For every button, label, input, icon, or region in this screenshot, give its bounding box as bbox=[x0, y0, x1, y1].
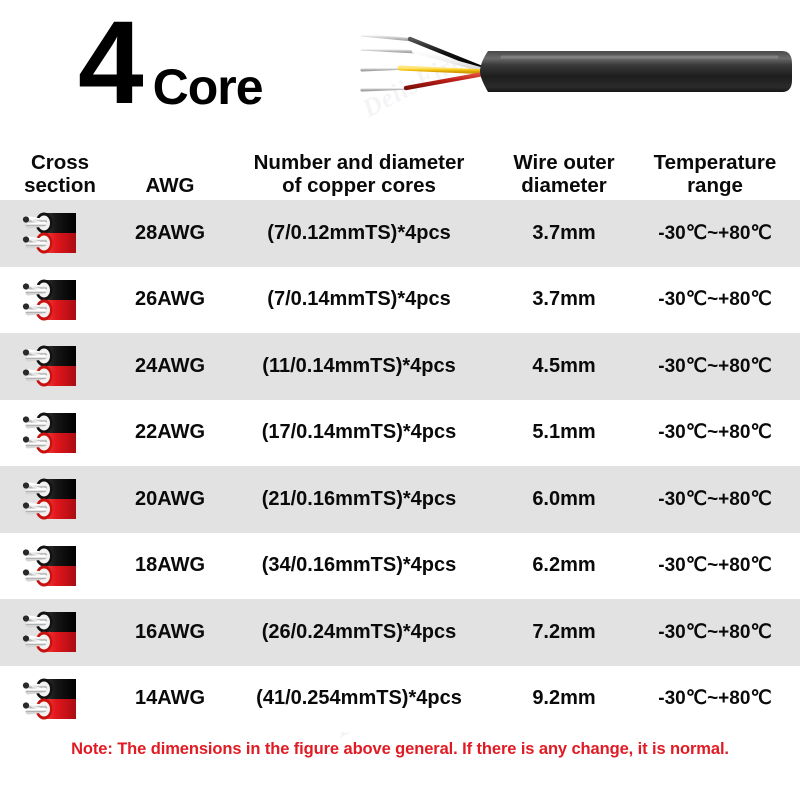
cable-cross-section-icon bbox=[18, 409, 80, 457]
cell-temperature-range: -30℃~+80℃ bbox=[630, 554, 800, 577]
cell-cross-section bbox=[0, 409, 120, 457]
cell-copper-cores: (7/0.14mmTS)*4pcs bbox=[220, 288, 498, 311]
cell-awg-value: 26AWG bbox=[135, 288, 205, 310]
table-row[interactable]: 26AWG(7/0.14mmTS)*4pcs3.7mm-30℃~+80℃ bbox=[0, 267, 800, 334]
cell-wire-outer-diameter: 3.7mm bbox=[498, 222, 630, 245]
four-core-cable-illustration bbox=[352, 18, 792, 114]
copper-cores-header-line2: of copper cores bbox=[220, 175, 498, 198]
cell-copper-cores: (34/0.16mmTS)*4pcs bbox=[220, 554, 498, 577]
cell-cross-section bbox=[0, 276, 120, 324]
page-title: 4 Core bbox=[78, 8, 263, 119]
core-count: 4 bbox=[78, 8, 139, 119]
table-header-row: Cross section AWG Number and diameter of… bbox=[0, 132, 800, 200]
cell-wire-outer-diameter: 4.5mm bbox=[498, 355, 630, 378]
column-header-cross-section: Cross section bbox=[0, 152, 120, 198]
cell-temperature-range: -30℃~+80℃ bbox=[630, 288, 800, 311]
cell-temperature-range-value: -30℃~+80℃ bbox=[658, 622, 771, 643]
cell-wire-outer-diameter: 6.2mm bbox=[498, 554, 630, 577]
cross-section-header-line2: section bbox=[0, 175, 120, 198]
cell-copper-cores-value: (41/0.254mmTS)*4pcs bbox=[256, 687, 462, 709]
table-row[interactable]: 16AWG(26/0.24mmTS)*4pcs7.2mm-30℃~+80℃ bbox=[0, 599, 800, 666]
cell-temperature-range: -30℃~+80℃ bbox=[630, 687, 800, 710]
table-row[interactable]: 18AWG(34/0.16mmTS)*4pcs6.2mm-30℃~+80℃ bbox=[0, 533, 800, 600]
cell-awg: 14AWG bbox=[120, 687, 220, 710]
cable-cross-section-icon bbox=[18, 342, 80, 390]
cell-wire-outer-diameter-value: 6.0mm bbox=[532, 488, 595, 510]
temperature-header-line2: range bbox=[630, 175, 800, 198]
cell-temperature-range: -30℃~+80℃ bbox=[630, 355, 800, 378]
cell-temperature-range: -30℃~+80℃ bbox=[630, 488, 800, 511]
cell-awg-value: 24AWG bbox=[135, 355, 205, 377]
cell-awg-value: 16AWG bbox=[135, 621, 205, 643]
cell-cross-section bbox=[0, 475, 120, 523]
cell-awg: 28AWG bbox=[120, 222, 220, 245]
cell-wire-outer-diameter-value: 3.7mm bbox=[532, 288, 595, 310]
cell-awg-value: 22AWG bbox=[135, 421, 205, 443]
cell-cross-section bbox=[0, 542, 120, 590]
cell-temperature-range-value: -30℃~+80℃ bbox=[658, 422, 771, 443]
cell-awg: 16AWG bbox=[120, 621, 220, 644]
table-row[interactable]: 20AWG(21/0.16mmTS)*4pcs6.0mm-30℃~+80℃ bbox=[0, 466, 800, 533]
cell-copper-cores-value: (7/0.14mmTS)*4pcs bbox=[267, 288, 450, 310]
cell-wire-outer-diameter: 9.2mm bbox=[498, 687, 630, 710]
cell-awg: 20AWG bbox=[120, 488, 220, 511]
header: 4 Core bbox=[0, 0, 800, 132]
cell-awg: 24AWG bbox=[120, 355, 220, 378]
cable-jacket bbox=[480, 51, 792, 92]
cell-wire-outer-diameter: 7.2mm bbox=[498, 621, 630, 644]
cable-cross-section-icon bbox=[18, 209, 80, 257]
cable-cross-section-icon bbox=[18, 475, 80, 523]
cell-wire-outer-diameter-value: 9.2mm bbox=[532, 687, 595, 709]
cell-temperature-range: -30℃~+80℃ bbox=[630, 421, 800, 444]
cell-copper-cores: (21/0.16mmTS)*4pcs bbox=[220, 488, 498, 511]
copper-cores-header-line1: Number and diameter bbox=[220, 152, 498, 175]
cell-temperature-range: -30℃~+80℃ bbox=[630, 621, 800, 644]
cell-temperature-range: -30℃~+80℃ bbox=[630, 222, 800, 245]
footer-note: Note: The dimensions in the figure above… bbox=[0, 732, 800, 759]
spec-table: Cross section AWG Number and diameter of… bbox=[0, 132, 800, 732]
table-row[interactable]: 24AWG(11/0.14mmTS)*4pcs4.5mm-30℃~+80℃ bbox=[0, 333, 800, 400]
temperature-header-line1: Temperature bbox=[630, 152, 800, 175]
cross-section-header-line1: Cross bbox=[0, 152, 120, 175]
table-row[interactable]: 14AWG(41/0.254mmTS)*4pcs9.2mm-30℃~+80℃ bbox=[0, 666, 800, 733]
column-header-awg: AWG bbox=[120, 175, 220, 198]
cell-copper-cores-value: (26/0.24mmTS)*4pcs bbox=[262, 621, 457, 643]
column-header-wire-outer-diameter: Wire outer diameter bbox=[498, 152, 630, 198]
cell-wire-outer-diameter: 3.7mm bbox=[498, 288, 630, 311]
cell-wire-outer-diameter-value: 5.1mm bbox=[532, 421, 595, 443]
cell-copper-cores-value: (17/0.14mmTS)*4pcs bbox=[262, 421, 457, 443]
cell-wire-outer-diameter-value: 3.7mm bbox=[532, 222, 595, 244]
cell-awg: 18AWG bbox=[120, 554, 220, 577]
cell-cross-section bbox=[0, 342, 120, 390]
cell-temperature-range-value: -30℃~+80℃ bbox=[658, 223, 771, 244]
cell-wire-outer-diameter: 6.0mm bbox=[498, 488, 630, 511]
cell-temperature-range-value: -30℃~+80℃ bbox=[658, 289, 771, 310]
cell-temperature-range-value: -30℃~+80℃ bbox=[658, 555, 771, 576]
cell-awg: 22AWG bbox=[120, 421, 220, 444]
cable-cross-section-icon bbox=[18, 608, 80, 656]
cell-awg-value: 28AWG bbox=[135, 222, 205, 244]
cell-awg-value: 14AWG bbox=[135, 687, 205, 709]
cell-copper-cores: (11/0.14mmTS)*4pcs bbox=[220, 355, 498, 378]
cell-copper-cores: (17/0.14mmTS)*4pcs bbox=[220, 421, 498, 444]
column-header-temperature-range: Temperature range bbox=[630, 152, 800, 198]
cable-cross-section-icon bbox=[18, 276, 80, 324]
cell-wire-outer-diameter-value: 4.5mm bbox=[532, 355, 595, 377]
wire-red bbox=[362, 73, 489, 90]
cell-copper-cores: (41/0.254mmTS)*4pcs bbox=[220, 687, 498, 710]
cable-cross-section-icon bbox=[18, 675, 80, 723]
cell-awg-value: 18AWG bbox=[135, 554, 205, 576]
cell-awg: 26AWG bbox=[120, 288, 220, 311]
table-row[interactable]: 28AWG(7/0.12mmTS)*4pcs3.7mm-30℃~+80℃ bbox=[0, 200, 800, 267]
cell-copper-cores: (26/0.24mmTS)*4pcs bbox=[220, 621, 498, 644]
cell-copper-cores-value: (7/0.12mmTS)*4pcs bbox=[267, 222, 450, 244]
wire-outer-header-line2: diameter bbox=[498, 175, 630, 198]
table-body: 28AWG(7/0.12mmTS)*4pcs3.7mm-30℃~+80℃26AW… bbox=[0, 200, 800, 732]
cell-copper-cores-value: (11/0.14mmTS)*4pcs bbox=[262, 355, 455, 377]
cell-temperature-range-value: -30℃~+80℃ bbox=[658, 356, 771, 377]
table-row[interactable]: 22AWG(17/0.14mmTS)*4pcs5.1mm-30℃~+80℃ bbox=[0, 400, 800, 467]
wire-outer-header-line1: Wire outer bbox=[498, 152, 630, 175]
cell-wire-outer-diameter: 5.1mm bbox=[498, 421, 630, 444]
cell-awg-value: 20AWG bbox=[135, 488, 205, 510]
cell-cross-section bbox=[0, 209, 120, 257]
core-label: Core bbox=[139, 62, 263, 119]
cell-wire-outer-diameter-value: 6.2mm bbox=[532, 554, 595, 576]
cell-wire-outer-diameter-value: 7.2mm bbox=[532, 621, 595, 643]
cell-copper-cores-value: (21/0.16mmTS)*4pcs bbox=[262, 488, 457, 510]
cell-temperature-range-value: -30℃~+80℃ bbox=[658, 688, 771, 709]
cable-cross-section-icon bbox=[18, 542, 80, 590]
cell-cross-section bbox=[0, 675, 120, 723]
column-header-copper-cores: Number and diameter of copper cores bbox=[220, 152, 498, 198]
cell-temperature-range-value: -30℃~+80℃ bbox=[658, 489, 771, 510]
cell-copper-cores-value: (34/0.16mmTS)*4pcs bbox=[262, 554, 457, 576]
cell-copper-cores: (7/0.12mmTS)*4pcs bbox=[220, 222, 498, 245]
cell-cross-section bbox=[0, 608, 120, 656]
